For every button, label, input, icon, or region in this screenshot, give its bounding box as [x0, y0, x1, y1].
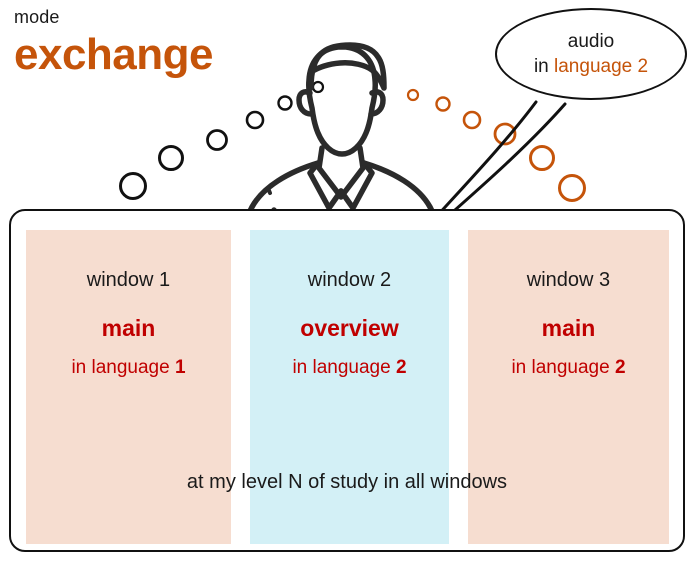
window-3-title: window 3 — [468, 268, 669, 292]
window-1-title: window 1 — [26, 268, 231, 292]
audio-speech-bubble: audio in language 2 — [495, 8, 687, 100]
window-2-language-number: 2 — [396, 357, 407, 378]
window-3-language: in language 2 — [468, 356, 669, 380]
black-circle-trail — [121, 82, 324, 199]
window-3-role: main — [468, 314, 669, 342]
window-column-1[interactable]: window 1 main in language 1 — [26, 230, 231, 544]
window-2-language-prefix: in language — [292, 357, 390, 378]
speech-bubble-language: language 2 — [554, 56, 648, 77]
mode-label: mode — [14, 6, 213, 28]
page-header: mode exchange — [14, 6, 213, 80]
speech-bubble-line-1: audio — [568, 29, 615, 54]
window-3-language-prefix: in language — [511, 357, 609, 378]
window-column-3[interactable]: window 3 main in language 2 — [468, 230, 669, 544]
windows-panel: window 1 main in language 1 window 2 ove… — [9, 209, 685, 552]
window-1-language: in language 1 — [26, 356, 231, 380]
page-title: exchange — [14, 30, 213, 80]
window-1-language-prefix: in language — [71, 357, 169, 378]
window-2-title: window 2 — [250, 268, 449, 292]
speech-bubble-prefix: in — [534, 56, 549, 77]
orange-circle-trail — [408, 90, 585, 201]
speech-bubble-line-2: in language 2 — [534, 54, 648, 79]
window-1-role: main — [26, 314, 231, 342]
window-1-language-number: 1 — [175, 357, 186, 378]
window-2-role: overview — [250, 314, 449, 342]
window-3-language-number: 2 — [615, 357, 626, 378]
window-2-language: in language 2 — [250, 356, 449, 380]
window-column-2[interactable]: window 2 overview in language 2 — [250, 230, 449, 544]
